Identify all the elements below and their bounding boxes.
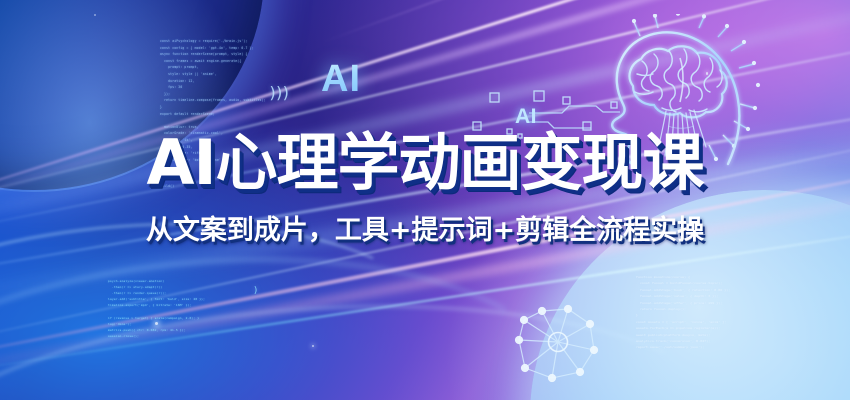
code-brace-bottom-left: )	[253, 286, 256, 296]
sparkle-dot	[312, 345, 314, 347]
sparkle-dot	[155, 322, 158, 325]
banner-title: AI心理学动画变现课	[0, 132, 850, 194]
light-swoosh	[0, 223, 585, 400]
sparkle-dot	[706, 72, 708, 75]
code-brace-top-left: )))	[268, 83, 288, 102]
code-snippet-bottom-left: psych.analyze(viewer.emotion) .then(r =>…	[108, 278, 205, 339]
headline-block: AI心理学动画变现课 从文案到成片，工具+提示词+剪辑全流程实操	[0, 132, 850, 247]
ai-course-banner: const aiPsychology = require('./brain.js…	[0, 0, 850, 400]
banner-subtitle: 从文案到成片，工具+提示词+剪辑全流程实操	[0, 208, 850, 247]
ai-wordmark-large: AI	[321, 58, 361, 101]
